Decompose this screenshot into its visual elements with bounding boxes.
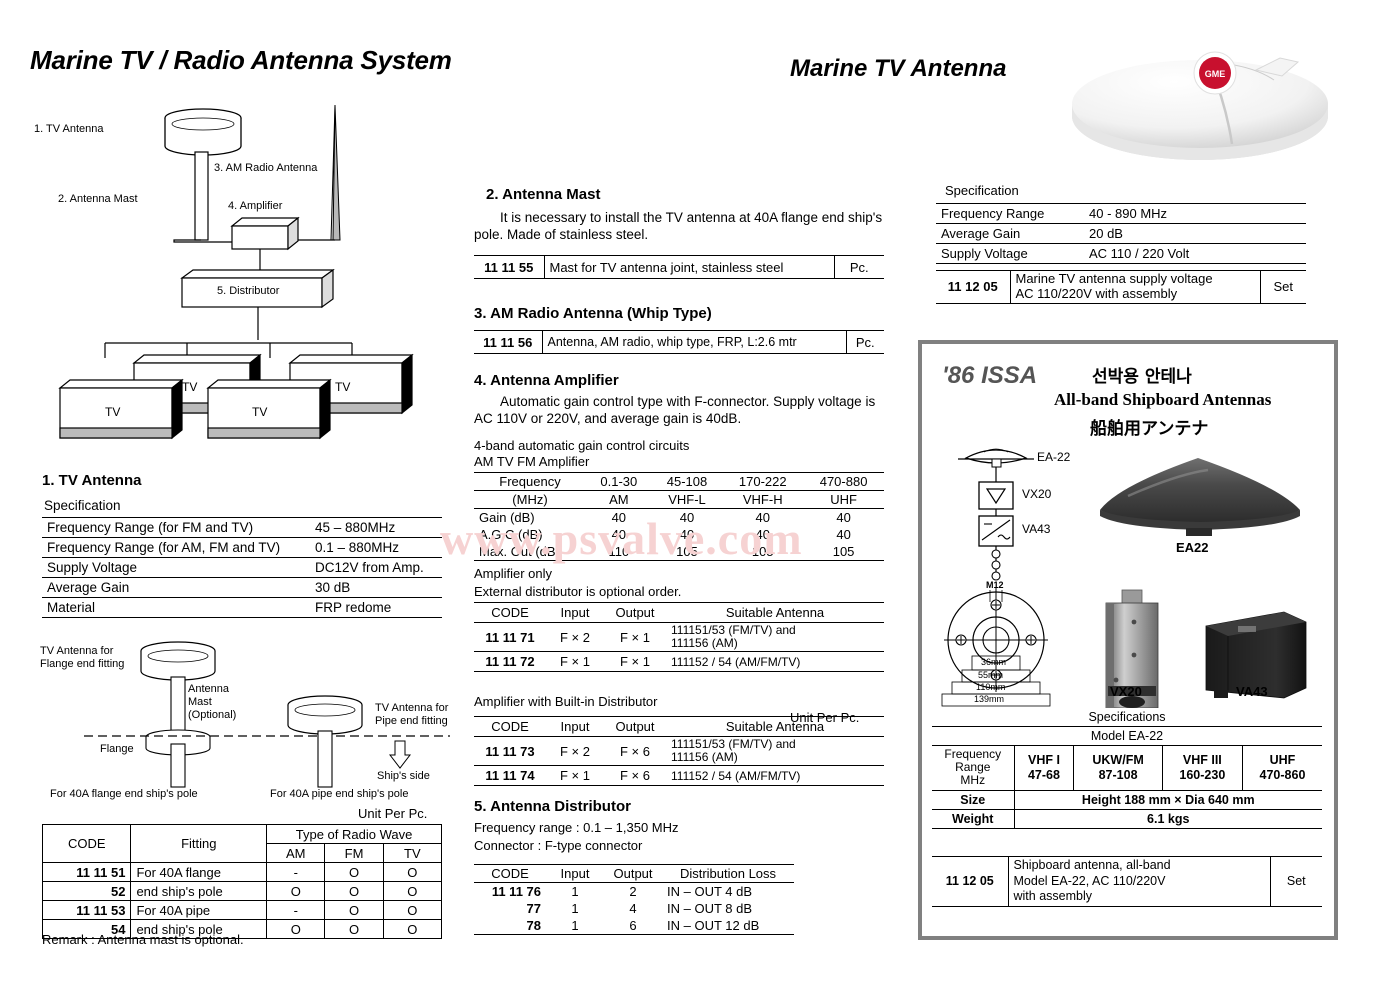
section5-line1: Frequency range : 0.1 – 1,350 MHz [474, 820, 679, 835]
amplifier-only-note1: Amplifier only [474, 566, 552, 581]
marine-antenna-spec-table: Frequency Range40 - 890 MHz Average Gain… [936, 203, 1306, 264]
mast-code-table: 11 11 55 Mast for TV antenna joint, stai… [474, 255, 884, 279]
fitting-table: CODE Fitting Type of Radio Wave AM FM TV… [42, 824, 442, 939]
table-row: 11 11 73 F × 2 F × 6 111151/53 (FM/TV) a… [474, 737, 884, 766]
issa-title: '86 ISSA [942, 362, 1037, 390]
table-row: Frequency Range (for AM, FM and TV)0.1 –… [42, 538, 442, 558]
svg-text:GME: GME [1205, 69, 1226, 79]
schematic-label-ea22: EA-22 [1037, 450, 1070, 464]
builtin-distributor-note: Amplifier with Built-in Distributor [474, 694, 658, 709]
table-row: Model EA-22 [932, 727, 1322, 746]
schematic-dim-110: 110mm [976, 682, 1005, 692]
section2-heading: 2. Antenna Mast [486, 186, 600, 203]
section2-body: It is necessary to install the TV antenn… [474, 210, 894, 244]
table-row: Weight 6.1 kgs [932, 809, 1322, 828]
table-header-row: Specifications [932, 708, 1322, 727]
table-header-row: CODE Input Output Distribution Loss [474, 865, 794, 883]
table-row: Gain (dB) 40 40 40 40 [474, 509, 884, 527]
amplifier-frequency-table: Frequency 0.1-30 45-108 170-222 470-880 … [474, 472, 884, 561]
amplifier-builtin-table: CODE Input Output Suitable Antenna 11 11… [474, 716, 884, 786]
ea22-spec-table: Specifications Model EA-22 FrequencyRang… [932, 708, 1322, 829]
distributor-table: CODE Input Output Distribution Loss 11 1… [474, 864, 794, 935]
fitting-unit-note: Unit Per Pc. [358, 806, 427, 821]
section3-heading: 3. AM Radio Antenna (Whip Type) [474, 305, 712, 322]
table-row: 11 11 74 F × 1 F × 6 111152 / 54 (AM/FM/… [474, 766, 884, 786]
issa-product-photos: EA22 VX20 VA43 [1088, 440, 1328, 708]
issa-block-diagram: EA-22 VX20 VA43 M12 36mm 55mm 110mm 139m… [934, 440, 1114, 710]
table-row: 78 1 6 IN – OUT 12 dB [474, 917, 794, 935]
table-header-row: Frequency 0.1-30 45-108 170-222 470-880 [474, 473, 884, 491]
table-row: 52 end ship's pole O O O [43, 882, 442, 901]
table-row: Average Gain30 dB [42, 578, 442, 598]
mounting-diagram: TV Antenna for Flange end fitting Antenn… [40, 625, 460, 805]
mount-caption-right: For 40A pipe end ship's pole [270, 788, 408, 800]
section4-subtitle1: 4-band automatic gain control circuits [474, 438, 689, 453]
schematic-dim-36: 36mm [981, 657, 1006, 667]
table-row: Frequency Range (for FM and TV)45 – 880M… [42, 518, 442, 538]
table-row: FrequencyRangeMHz VHF I47-68 UKW/FM87-10… [932, 746, 1322, 791]
table-row: 11 11 55 Mast for TV antenna joint, stai… [474, 256, 884, 279]
mount-label-mast-optional: Antenna [188, 683, 229, 695]
amplifier-only-note2: External distributor is optional order. [474, 584, 681, 599]
section5-line2: Connector : F-type connector [474, 838, 642, 853]
section1-spec-label: Specification [44, 498, 121, 513]
right-section-title: Marine TV Antenna [790, 55, 1006, 83]
right-spec-label: Specification [945, 183, 1019, 198]
table-row: 11 11 76 1 2 IN – OUT 4 dB [474, 883, 794, 901]
fitting-remark: Remark : Antenna mast is optional. [42, 932, 244, 947]
am-radio-code-table: 11 11 56 Antenna, AM radio, whip type, F… [474, 330, 884, 354]
mount-label-ships-side: Ship's side [377, 770, 430, 782]
marine-tv-antenna-photo: GME [1060, 28, 1350, 168]
mount-label-flange-antenna: TV Antenna for [40, 645, 113, 657]
table-row: Supply VoltageAC 110 / 220 Volt [936, 244, 1306, 264]
photo-label-va43: VA43 [1236, 684, 1268, 699]
photo-label-ea22: EA22 [1176, 540, 1209, 555]
table-row: 11 11 56 Antenna, AM radio, whip type, F… [474, 331, 884, 354]
table-row: Frequency Range40 - 890 MHz [936, 204, 1306, 224]
diagram-label-tv-4: TV [335, 380, 350, 394]
table-row: 77 1 4 IN – OUT 8 dB [474, 900, 794, 917]
diagram-label-tv-2: TV [182, 380, 197, 394]
diagram-label-antenna-mast: 2. Antenna Mast [58, 193, 138, 205]
section4-subtitle2: AM TV FM Amplifier [474, 454, 589, 469]
table-header-row: (MHz) AM VHF-L VHF-H UHF [474, 491, 884, 509]
schematic-dim-139: 139mm [974, 694, 1004, 704]
tv-antenna-spec-table: Frequency Range (for FM and TV)45 – 880M… [42, 517, 442, 618]
table-row: Average Gain20 dB [936, 224, 1306, 244]
table-row: 11 11 53 For 40A pipe - O O [43, 901, 442, 920]
mount-label-flange: Flange [100, 743, 134, 755]
schematic-dim-m12: M12 [986, 580, 1004, 590]
table-header-row: CODE Input Output Suitable Antenna [474, 603, 884, 623]
table-row: Max. Out (dB) 110 105 105 105 [474, 543, 884, 561]
table-row: 11 12 05 Marine TV antenna supply voltag… [936, 271, 1306, 304]
amplifier-only-table: CODE Input Output Suitable Antenna 11 11… [474, 602, 884, 672]
section1-heading: 1. TV Antenna [42, 472, 141, 489]
diagram-label-am-radio: 3. AM Radio Antenna [214, 162, 317, 174]
diagram-label-distributor: 5. Distributor [217, 285, 279, 297]
table-row: MaterialFRP redome [42, 598, 442, 618]
issa-japanese-title: 船舶用アンテナ [1090, 414, 1208, 439]
section4-body: Automatic gain control type with F-conne… [474, 394, 892, 428]
section5-heading: 5. Antenna Distributor [474, 798, 631, 815]
schematic-label-va43: VA43 [1022, 522, 1050, 536]
catalog-page: Marine TV / Radio Antenna System Marine … [0, 0, 1394, 1000]
table-row: A.G.C (dB) 40 40 40 40 [474, 526, 884, 543]
table-row: Size Height 188 mm × Dia 640 mm [932, 790, 1322, 809]
table-header-row: CODE Fitting Type of Radio Wave [43, 825, 442, 844]
diagram-label-tv-antenna: 1. TV Antenna [34, 123, 104, 135]
mount-caption-left: For 40A flange end ship's pole [50, 788, 198, 800]
table-row: 11 11 71 F × 2 F × 1 111151/53 (FM/TV) a… [474, 623, 884, 652]
page-title: Marine TV / Radio Antenna System [30, 45, 452, 76]
table-row: 11 11 72 F × 1 F × 1 111152 / 54 (AM/FM/… [474, 652, 884, 672]
issa-korean-title: 선박용 안테나 [1092, 362, 1192, 387]
issa-allband-title: All-band Shipboard Antennas [1054, 390, 1271, 410]
marine-antenna-code-table: 11 12 05 Marine TV antenna supply voltag… [936, 270, 1306, 304]
section4-heading: 4. Antenna Amplifier [474, 372, 619, 389]
table-row: 11 11 51 For 40A flange - O O [43, 863, 442, 882]
schematic-label-vx20: VX20 [1022, 487, 1051, 501]
table-row: 11 12 05 Shipboard antenna, all-band Mod… [932, 857, 1322, 907]
issa-code-table: 11 12 05 Shipboard antenna, all-band Mod… [932, 856, 1322, 907]
diagram-label-amplifier: 4. Amplifier [228, 200, 282, 212]
schematic-dim-55: 55mm [978, 670, 1003, 680]
issa-panel: '86 ISSA 선박용 안테나 All-band Shipboard Ante… [918, 340, 1338, 940]
photo-label-vx20: VX20 [1110, 684, 1142, 699]
table-row: Supply VoltageDC12V from Amp. [42, 558, 442, 578]
mount-label-pipe-antenna: TV Antenna for [375, 702, 448, 714]
system-diagram: 1. TV Antenna 2. Antenna Mast 3. AM Radi… [30, 100, 460, 440]
table-header-row: CODE Input Output Suitable Antenna [474, 717, 884, 737]
diagram-label-tv-3: TV [252, 405, 267, 419]
diagram-label-tv-1: TV [105, 405, 120, 419]
